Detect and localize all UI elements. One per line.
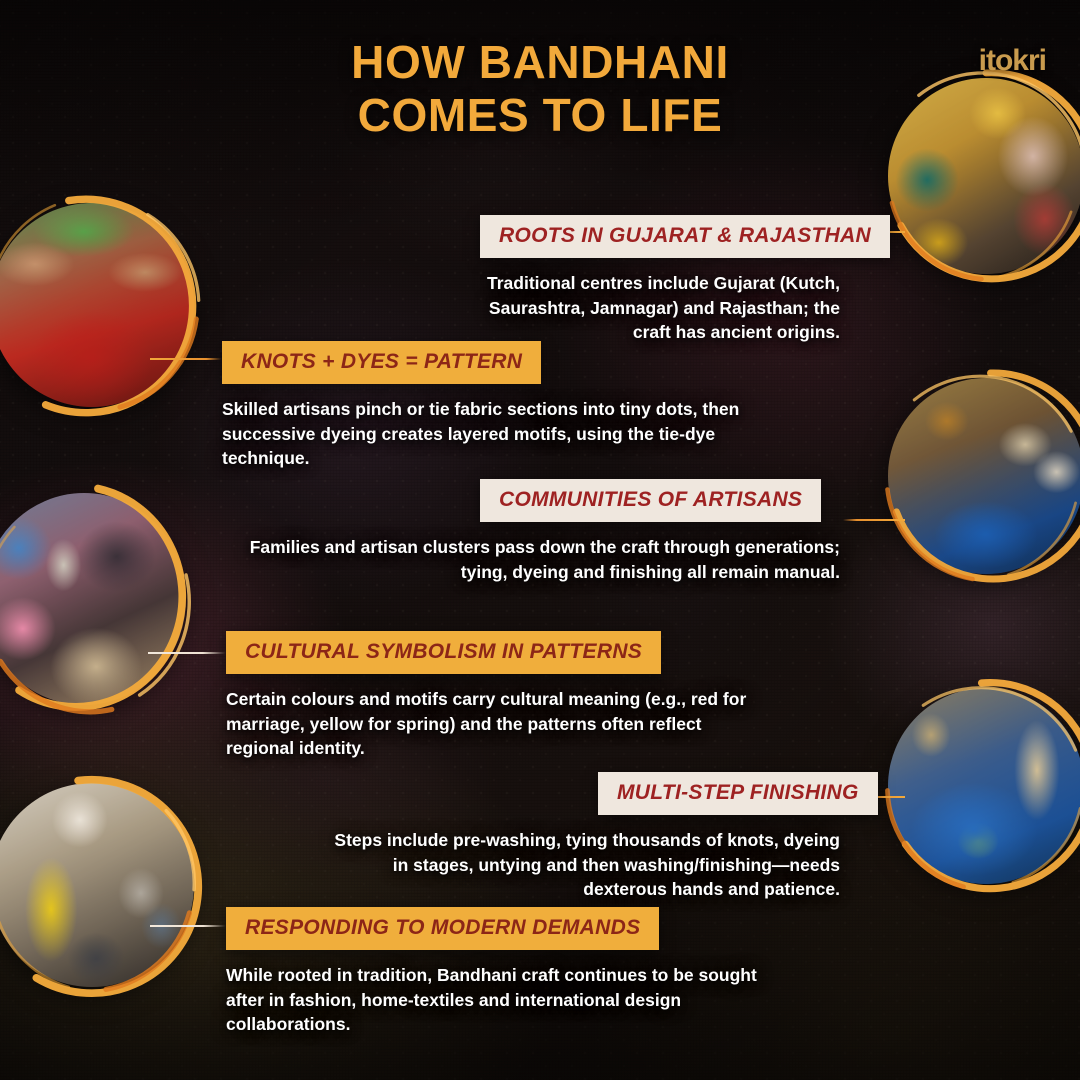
photo-sheen xyxy=(0,203,194,407)
section-heading-badge: MULTI-STEP FINISHING xyxy=(598,772,878,815)
section-heading-badge: KNOTS + DYES = PATTERN xyxy=(222,341,541,384)
photo-sheen xyxy=(0,493,186,705)
section-body-text: Skilled artisans pinch or tie fabric sec… xyxy=(222,397,750,471)
photo-indigo-dye-vat xyxy=(888,688,1080,884)
section-cultural-symbolism-in-patterns: CULTURAL SYMBOLISM IN PATTERNS Certain c… xyxy=(226,631,766,761)
section-body-text: Traditional centres include Gujarat (Kut… xyxy=(480,271,840,345)
photo-woman-tying-cream-fabric xyxy=(0,493,186,705)
connector-line-6 xyxy=(150,925,226,927)
page-title: HOW BANDHANI COMES TO LIFE xyxy=(0,36,1080,143)
section-body-text: While rooted in tradition, Bandhani craf… xyxy=(226,963,776,1037)
section-knots-dyes-pattern: KNOTS + DYES = PATTERN Skilled artisans … xyxy=(222,341,750,471)
photo-sheen xyxy=(0,783,194,987)
section-body-text: Certain colours and motifs carry cultura… xyxy=(226,687,766,761)
section-responding-to-modern-demands: RESPONDING TO MODERN DEMANDS While roote… xyxy=(226,907,776,1037)
section-multi-step-finishing: MULTI-STEP FINISHING Steps include pre-w… xyxy=(598,772,840,902)
section-body-text: Families and artisan clusters pass down … xyxy=(240,535,840,584)
section-heading-badge: ROOTS IN GUJARAT & RAJASTHAN xyxy=(480,215,890,258)
photo-sheen xyxy=(888,688,1080,884)
connector-line-2 xyxy=(150,358,222,360)
photo-sheen xyxy=(888,378,1080,574)
connector-line-4 xyxy=(148,652,226,654)
page-title-line-1: HOW BANDHANI xyxy=(0,36,1080,89)
connector-line-3 xyxy=(843,519,905,521)
brand-logo-text: itokri xyxy=(979,44,1046,77)
page-title-line-2: COMES TO LIFE xyxy=(0,89,1080,142)
section-body-text: Steps include pre-washing, tying thousan… xyxy=(320,828,840,902)
section-roots-in-gujarat-rajasthan: ROOTS IN GUJARAT & RAJASTHAN Traditional… xyxy=(480,215,840,345)
section-heading-badge: RESPONDING TO MODERN DEMANDS xyxy=(226,907,659,950)
section-communities-of-artisans: COMMUNITIES OF ARTISANS Families and art… xyxy=(480,479,840,584)
photo-artisan-lifting-yellow-fabric xyxy=(0,783,194,987)
photo-hands-tying-red-fabric xyxy=(0,203,194,407)
brand-logo-itokri[interactable]: itokri xyxy=(979,44,1046,78)
photo-artisan-dye-workshop xyxy=(888,378,1080,574)
section-heading-badge: COMMUNITIES OF ARTISANS xyxy=(480,479,821,522)
infographic-poster: HOW BANDHANI COMES TO LIFE itokri ROOTS … xyxy=(0,0,1080,1080)
section-heading-badge: CULTURAL SYMBOLISM IN PATTERNS xyxy=(226,631,661,674)
